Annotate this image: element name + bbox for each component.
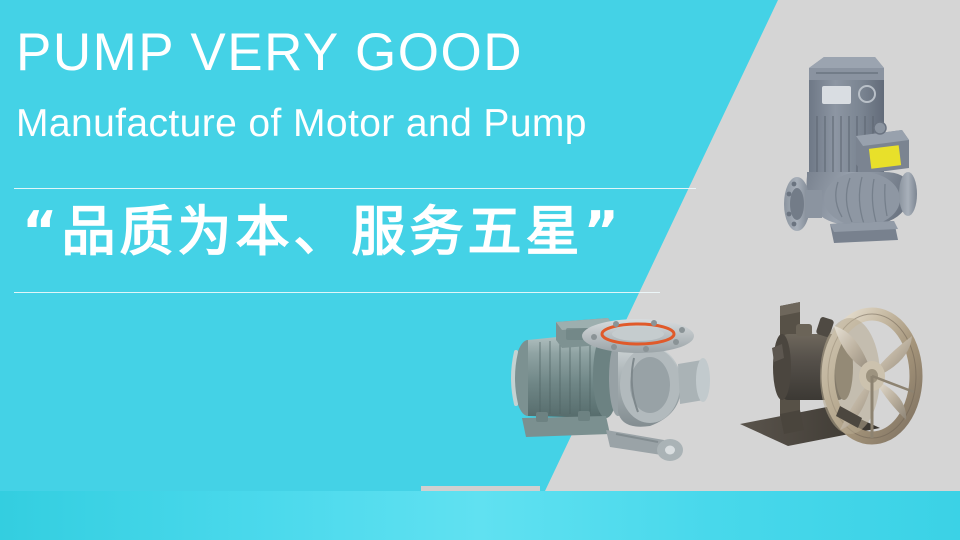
- page-subtitle: Manufacture of Motor and Pump: [16, 103, 587, 146]
- product-image-horizontal-centrifugal-pump: [488, 300, 724, 472]
- vertical-inline-pump-icon: [762, 44, 952, 256]
- divider-bottom: [14, 292, 660, 293]
- bottom-color-band: [0, 491, 960, 540]
- divider-top: [14, 188, 696, 189]
- slogan-text: “品质为本、服务五星”: [22, 196, 623, 269]
- submersible-mixer-icon: [722, 288, 944, 464]
- page-title: PUMP VERY GOOD: [16, 25, 523, 81]
- product-image-vertical-inline-pump: [762, 44, 952, 256]
- promotional-banner: PUMP VERY GOOD Manufacture of Motor and …: [0, 0, 960, 540]
- horizontal-centrifugal-pump-icon: [488, 300, 724, 472]
- product-image-submersible-mixer: [722, 288, 944, 464]
